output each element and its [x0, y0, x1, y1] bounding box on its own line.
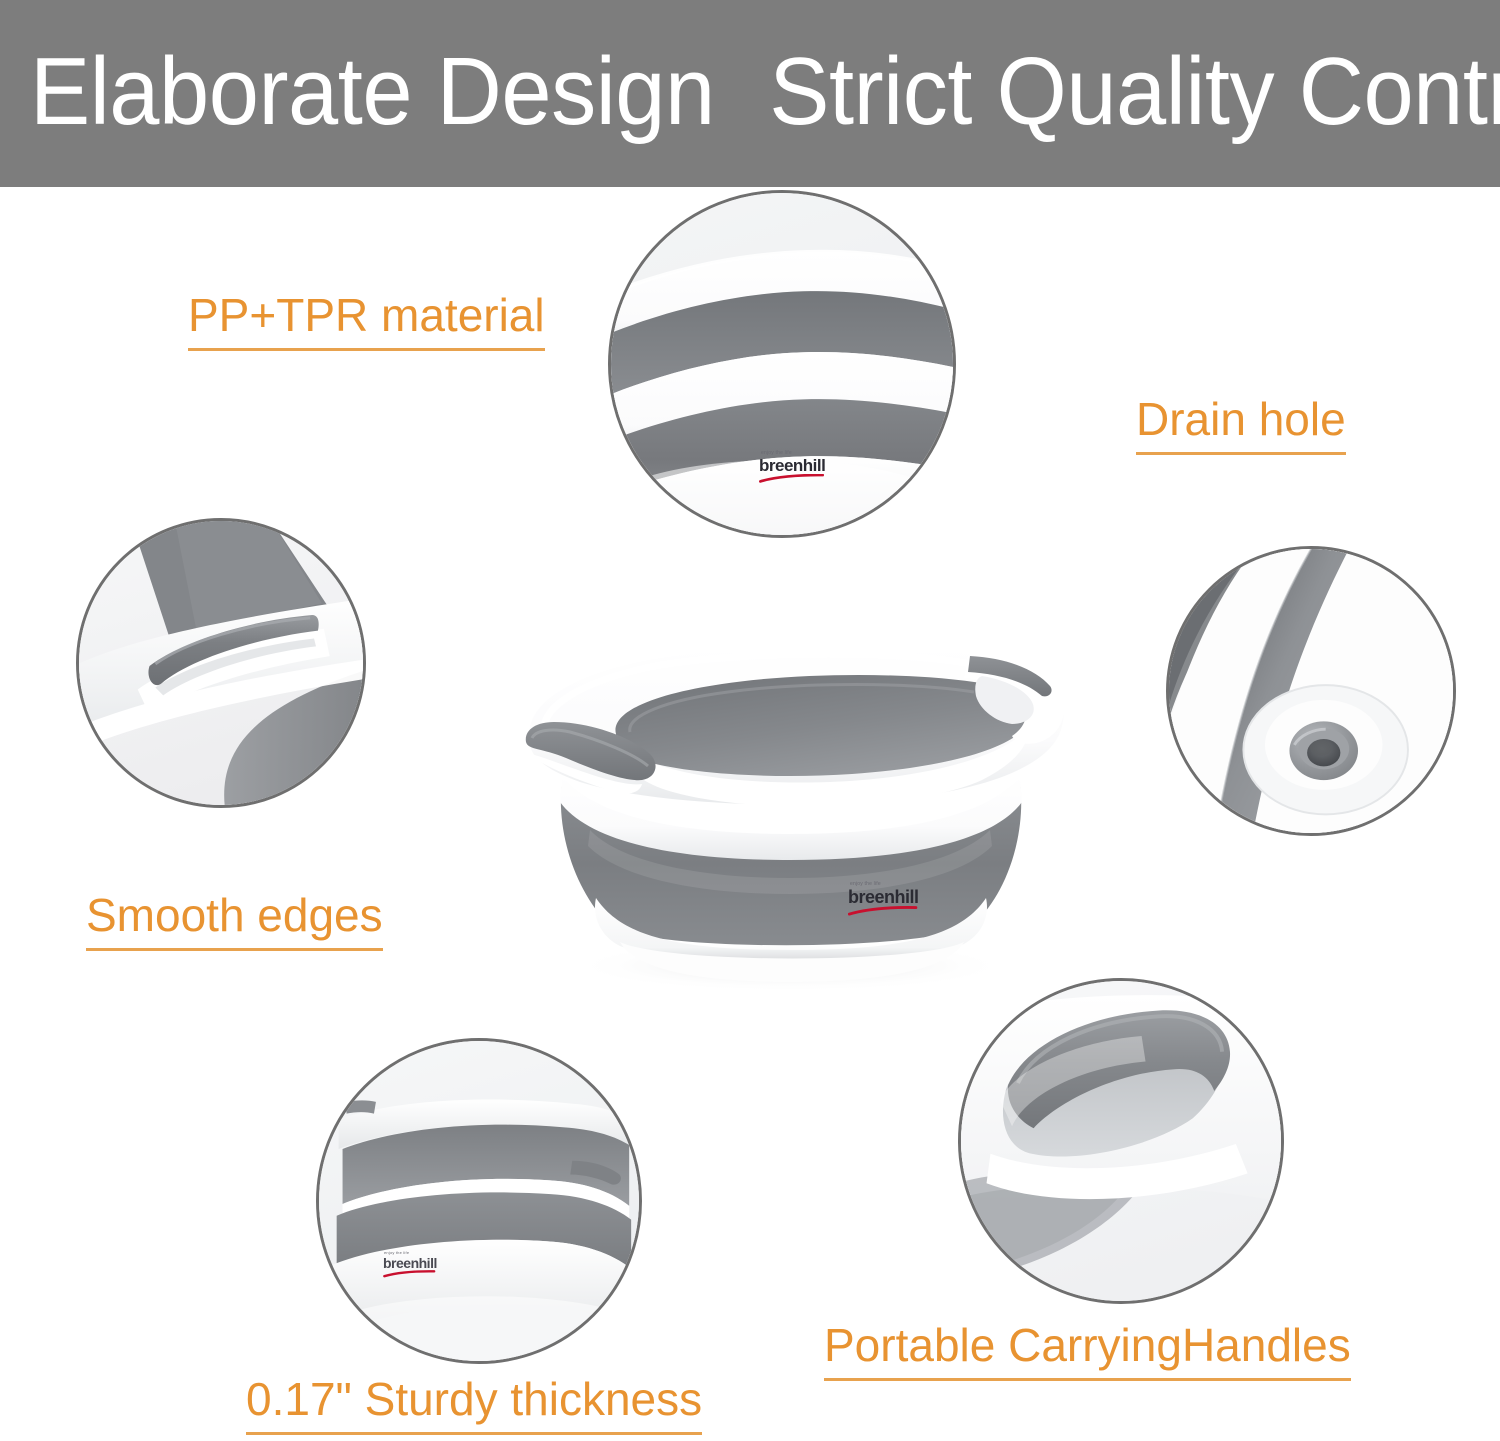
header-banner: Elaborate DesignStrict Quality Control [0, 0, 1500, 187]
brand-logo: enjoy the life breenhill [759, 451, 825, 483]
handles-callout [958, 978, 1284, 1304]
label-carrying-handles: Portable CarryingHandles [824, 1318, 1351, 1381]
thickness-callout: enjoy the life breenhill [316, 1038, 642, 1364]
label-smooth-edges: Smooth edges [86, 888, 383, 951]
brand-name: breenhill [759, 457, 825, 474]
brand-logo-thickness: enjoy the life breenhill [383, 1251, 437, 1278]
drain-callout [1166, 546, 1456, 836]
handle-nub-left [346, 1100, 375, 1113]
title-segment-1: Elaborate Design [30, 38, 715, 145]
hero-product-image: enjoy the life breenhill [470, 590, 1110, 1010]
logo-swoosh-icon [383, 1270, 437, 1278]
infographic-canvas: Elaborate DesignStrict Quality Control P… [0, 0, 1500, 1441]
title-segment-2: Strict Quality Control [769, 38, 1500, 145]
page-title: Elaborate DesignStrict Quality Control [30, 36, 1393, 148]
brand-name: breenhill [383, 1256, 437, 1270]
logo-swoosh-icon [848, 906, 919, 916]
label-pp-tpr-material: PP+TPR material [188, 288, 545, 351]
brand-name: breenhill [848, 888, 919, 906]
label-sturdy-thickness: 0.17" Sturdy thickness [246, 1372, 702, 1435]
brand-logo-hero: enjoy the life breenhill [848, 882, 919, 916]
material-callout: enjoy the life breenhill [608, 190, 956, 538]
logo-swoosh-icon [759, 474, 825, 483]
edges-callout [76, 518, 366, 808]
label-drain-hole: Drain hole [1136, 392, 1346, 455]
